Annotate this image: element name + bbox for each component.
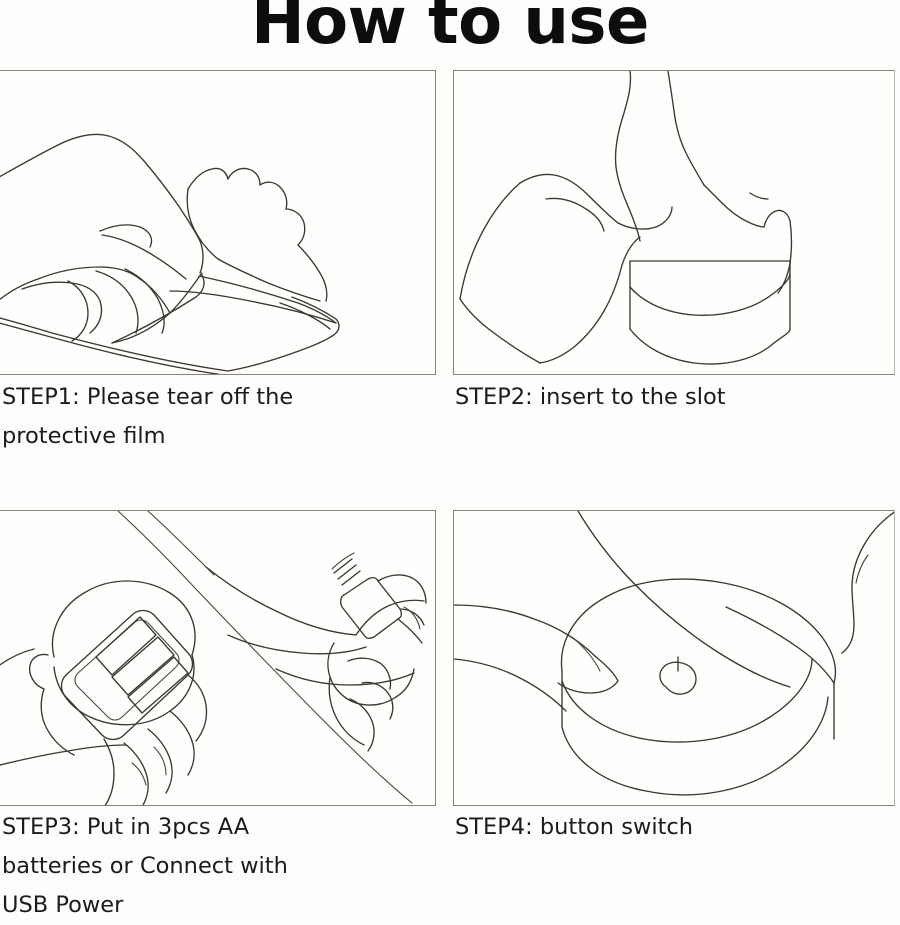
- step3-illustration-panel: [0, 510, 436, 806]
- step4-caption: STEP4: button switch: [455, 808, 885, 847]
- how-to-use-instruction-sheet: How to use: [0, 0, 900, 900]
- art-finger-pressing-power-button: [454, 511, 895, 806]
- step3-caption: STEP3: Put in 3pcs AA batteries or Conne…: [2, 808, 432, 925]
- step1-caption: STEP1: Please tear off the protective fi…: [2, 378, 432, 456]
- page-title: How to use: [0, 0, 900, 54]
- step4-illustration-panel: [453, 510, 895, 806]
- step2-caption: STEP2: insert to the slot: [455, 378, 885, 417]
- art-hand-peeling-film: [0, 71, 436, 375]
- art-hand-inserting-into-slot: [454, 71, 895, 375]
- step2-illustration-panel: [453, 70, 895, 375]
- art-battery-and-usb: [0, 511, 436, 806]
- step1-illustration-panel: [0, 70, 436, 375]
